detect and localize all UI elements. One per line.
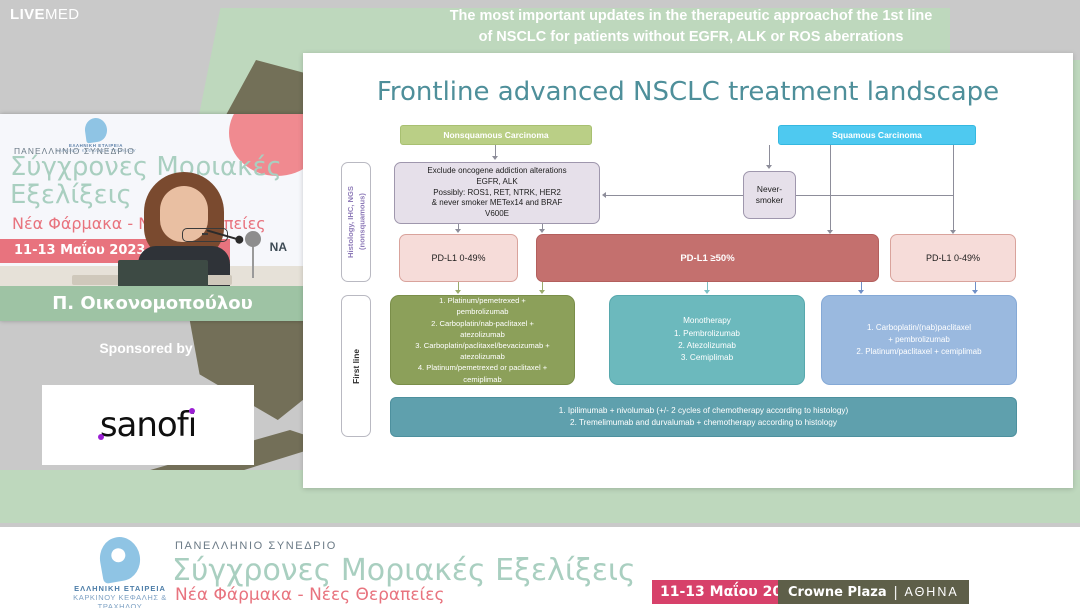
connector-never-rail <box>796 195 954 196</box>
banner-org-mark-icon <box>96 534 143 584</box>
brand-light: MED <box>45 6 80 23</box>
node-treatment-left-label: 1. Platinum/pemetrexed + pembrolizumab 2… <box>391 295 574 385</box>
banner-venue-chip: Crowne Plaza | ΑΘΗΝΑ <box>778 580 969 604</box>
connector-nonsq-to-exclude <box>495 145 496 156</box>
node-never-smoker-label: Never- smoker <box>744 184 795 206</box>
connector-sq-to-pdl1-center <box>830 145 831 230</box>
arrow-never-to-exclude-icon <box>602 192 606 198</box>
connector-never-to-exclude <box>605 195 743 196</box>
node-pdl1-left-label: PD-L1 0-49% <box>400 253 517 263</box>
slide-title: Frontline advanced NSCLC treatment lands… <box>303 77 1073 107</box>
arrow-sq-to-never-icon <box>766 165 772 169</box>
node-pdl1-right: PD-L1 0-49% <box>890 234 1016 282</box>
sanofi-logo: sanofi <box>100 405 196 445</box>
rail-first-line-label: First line <box>351 349 361 384</box>
session-header-line2: of NSCLC for patients without EGFR, ALK … <box>310 27 1072 48</box>
node-squamous-carcinoma: Squamous Carcinoma <box>778 125 976 145</box>
session-header: The most important updates in the therap… <box>310 6 1072 47</box>
connector-sq-to-pdl1-right <box>953 145 954 230</box>
arrow-exclude-to-pdl1-left-icon <box>455 229 461 233</box>
node-treatment-center: Monotherapy 1. Pembrolizumab 2. Atezoliz… <box>609 295 805 385</box>
treatment-landscape-diagram: Histology, IHC, NGS (nonsquamous) First … <box>337 119 1043 477</box>
arrow-nonsq-to-exclude-icon <box>492 156 498 160</box>
speaker-video-thumbnail[interactable]: ΕΛΛΗΝΙΚΗ ΕΤΑΙΡΕΙΑ ΚΑΡΚΙΝΟΥ ΚΕΦΑΛΗΣ & ΤΡΑ… <box>0 114 305 321</box>
rail-first-line: First line <box>341 295 371 437</box>
node-nonsquamous-label: Nonsquamous Carcinoma <box>401 130 591 140</box>
node-squamous-label: Squamous Carcinoma <box>779 130 975 140</box>
arrow-pdl1-center-to-mono-icon <box>704 290 710 294</box>
speaker-name-caption: Π. Οικονομοπούλου <box>0 286 305 321</box>
laptop <box>118 260 208 288</box>
banner-venue: Crowne Plaza <box>788 585 887 600</box>
node-immunotherapy-combinations: 1. Ipilimumab + nivolumab (+/- 2 cycles … <box>390 397 1017 437</box>
banner-city: ΑΘΗΝΑ <box>905 585 959 599</box>
node-nonsquamous-carcinoma: Nonsquamous Carcinoma <box>400 125 592 145</box>
brand-bold: LIVE <box>10 6 45 23</box>
session-header-line1: The most important updates in the therap… <box>310 6 1072 27</box>
sanofi-dot-left-icon <box>98 434 104 440</box>
speaker-face <box>160 186 208 242</box>
node-pdl1-center: PD-L1 ≥50% <box>536 234 879 282</box>
video-slide-city: ΝΑ <box>270 240 287 254</box>
node-immunotherapy-combinations-label: 1. Ipilimumab + nivolumab (+/- 2 cycles … <box>391 405 1016 430</box>
banner-subtitle: Νέα Φάρμακα - Νέες Θεραπείες <box>175 585 444 605</box>
node-pdl1-left: PD-L1 0-49% <box>399 234 518 282</box>
node-treatment-center-label: Monotherapy 1. Pembrolizumab 2. Atezoliz… <box>610 315 804 364</box>
arrow-pdl1-right-to-treat-a-icon <box>858 290 864 294</box>
arrow-pdl1-left-to-treat-icon <box>455 290 461 294</box>
banner-org-logo: ΕΛΛΗΝΙΚΗ ΕΤΑΙΡΕΙΑ ΚΑΡΚΙΝΟΥ ΚΕΦΑΛΗΣ & ΤΡΑ… <box>60 537 180 608</box>
arrow-pdl1-center-to-treat-left-icon <box>539 290 545 294</box>
org-mark-icon <box>83 117 108 144</box>
node-pdl1-right-label: PD-L1 0-49% <box>891 253 1015 263</box>
connector-sq-to-never <box>769 145 770 165</box>
node-treatment-left: 1. Platinum/pemetrexed + pembrolizumab 2… <box>390 295 575 385</box>
sanofi-logo-text: sanofi <box>100 405 196 445</box>
app-root: LIVEMED The most important updates in th… <box>0 0 1080 608</box>
sponsor-logo-box[interactable]: sanofi <box>42 385 254 465</box>
node-never-smoker: Never- smoker <box>743 171 796 219</box>
floor-microphone-icon <box>252 244 254 278</box>
arrow-pdl1-right-to-treat-b-icon <box>972 290 978 294</box>
node-treatment-right-label: 1. Carboplatin/(nab)paclitaxel + pembrol… <box>822 322 1016 358</box>
speaker-name: Π. Οικονομοπούλου <box>52 293 253 314</box>
banner-title: Σύγχρονες Μοριακές Εξελίξεις <box>172 553 636 588</box>
arrow-exclude-to-pdl1-center-icon <box>539 229 545 233</box>
presentation-slide[interactable]: Frontline advanced NSCLC treatment lands… <box>303 53 1073 488</box>
banner-org-line2: ΚΑΡΚΙΝΟΥ ΚΕΦΑΛΗΣ & ΤΡΑΧΗΛΟΥ <box>60 593 180 608</box>
banner-org-line1: ΕΛΛΗΝΙΚΗ ΕΤΑΙΡΕΙΑ <box>60 584 180 593</box>
sponsored-by-label: Sponsored by <box>0 340 292 356</box>
banner-separator: | <box>894 584 898 601</box>
congress-banner: ΕΛΛΗΝΙΚΗ ΕΤΑΙΡΕΙΑ ΚΑΡΚΙΝΟΥ ΚΕΦΑΛΗΣ & ΤΡΑ… <box>0 527 1080 608</box>
node-pdl1-center-label: PD-L1 ≥50% <box>537 253 878 264</box>
node-exclude-label: Exclude oncogene addiction alterations E… <box>395 166 599 219</box>
rail-histology: Histology, IHC, NGS (nonsquamous) <box>341 162 371 282</box>
rail-histology-label: Histology, IHC, NGS (nonsquamous) <box>345 186 368 258</box>
livemed-logo[interactable]: LIVEMED <box>10 6 80 23</box>
banner-eyebrow: ΠΑΝΕΛΛΗΝΙΟ ΣΥΝΕΔΡΙΟ <box>175 540 337 552</box>
node-treatment-right: 1. Carboplatin/(nab)paclitaxel + pembrol… <box>821 295 1017 385</box>
node-exclude-oncogene: Exclude oncogene addiction alterations E… <box>394 162 600 224</box>
